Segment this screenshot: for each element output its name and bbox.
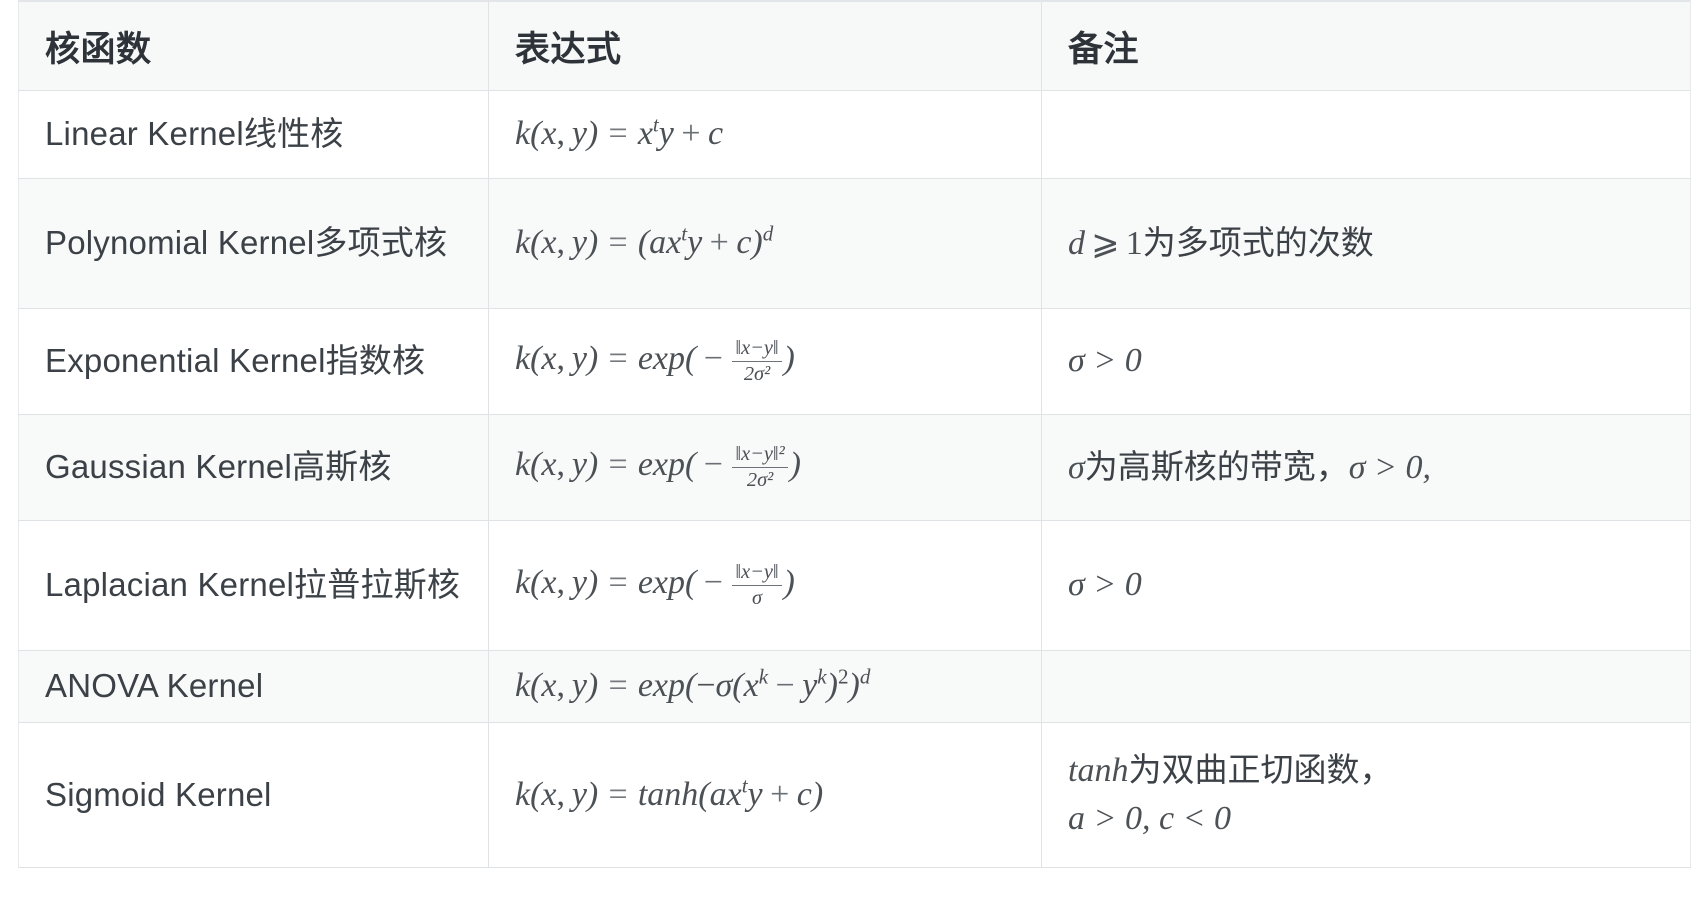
kernel-expression-polynomial: k(x, y)=(axty+c)d (489, 179, 1042, 309)
math-formula-exponential: k(x, y)=exp(−‖x−y‖2σ²) (515, 340, 795, 377)
math-formula-anova: k(x, y)=exp(−σ(xk−yk)2)d (515, 667, 870, 704)
kernel-name-anova: ANOVA Kernel (19, 651, 489, 723)
math-formula-sigmoid: k(x, y)=tanh(axty+c) (515, 776, 823, 813)
kernel-remark-laplacian: σ > 0 (1042, 521, 1691, 651)
column-header-remark: 备注 (1042, 1, 1691, 91)
math-remark-exponential: σ > 0 (1068, 342, 1142, 379)
kernel-table-wrapper: 核函数 表达式 备注 Linear Kernel线性核 k(x, y)=xty+… (0, 0, 1708, 868)
kernel-remark-linear (1042, 91, 1691, 179)
kernel-expression-gaussian: k(x, y)=exp(−‖x−y‖²2σ²) (489, 415, 1042, 521)
math-formula-gaussian: k(x, y)=exp(−‖x−y‖²2σ²) (515, 446, 801, 483)
kernel-expression-linear: k(x, y)=xty+c (489, 91, 1042, 179)
table-row: Laplacian Kernel拉普拉斯核 k(x, y)=exp(−‖x−y‖… (19, 521, 1691, 651)
kernel-remark-anova (1042, 651, 1691, 723)
table-row: Exponential Kernel指数核 k(x, y)=exp(−‖x−y‖… (19, 309, 1691, 415)
kernel-expression-anova: k(x, y)=exp(−σ(xk−yk)2)d (489, 651, 1042, 723)
fraction-gaussian: ‖x−y‖²2σ² (732, 443, 789, 492)
kernel-expression-sigmoid: k(x, y)=tanh(axty+c) (489, 723, 1042, 868)
table-header-row: 核函数 表达式 备注 (19, 1, 1691, 91)
kernel-name-exponential: Exponential Kernel指数核 (19, 309, 489, 415)
column-header-kernel-name: 核函数 (19, 1, 489, 91)
kernel-name-sigmoid: Sigmoid Kernel (19, 723, 489, 868)
math-remark-gaussian: σ为高斯核的带宽，σ > 0, (1068, 449, 1431, 486)
math-formula-linear: k(x, y)=xty+c (515, 115, 723, 152)
kernel-name-gaussian: Gaussian Kernel高斯核 (19, 415, 489, 521)
table-row: Gaussian Kernel高斯核 k(x, y)=exp(−‖x−y‖²2σ… (19, 415, 1691, 521)
kernel-name-laplacian: Laplacian Kernel拉普拉斯核 (19, 521, 489, 651)
math-remark-polynomial: d⩾1为多项式的次数 (1068, 225, 1374, 262)
kernel-remark-sigmoid: tanh为双曲正切函数， a > 0, c < 0 (1042, 723, 1691, 868)
table-row: ANOVA Kernel k(x, y)=exp(−σ(xk−yk)2)d (19, 651, 1691, 723)
kernel-remark-exponential: σ > 0 (1042, 309, 1691, 415)
kernel-name-polynomial: Polynomial Kernel多项式核 (19, 179, 489, 309)
table-row: Linear Kernel线性核 k(x, y)=xty+c (19, 91, 1691, 179)
table-row: Sigmoid Kernel k(x, y)=tanh(axty+c) tanh… (19, 723, 1691, 868)
math-formula-laplacian: k(x, y)=exp(−‖x−y‖σ) (515, 564, 795, 601)
math-remark-sigmoid-line1: tanh为双曲正切函数， (1068, 748, 1664, 794)
math-formula-polynomial: k(x, y)=(axty+c)d (515, 224, 773, 261)
table-row: Polynomial Kernel多项式核 k(x, y)=(axty+c)d … (19, 179, 1691, 309)
kernel-expression-exponential: k(x, y)=exp(−‖x−y‖2σ²) (489, 309, 1042, 415)
kernel-function-table: 核函数 表达式 备注 Linear Kernel线性核 k(x, y)=xty+… (18, 0, 1691, 868)
fraction-exponential: ‖x−y‖2σ² (732, 337, 783, 386)
math-remark-laplacian: σ > 0 (1068, 566, 1142, 603)
kernel-remark-polynomial: d⩾1为多项式的次数 (1042, 179, 1691, 309)
math-remark-sigmoid-line2: a > 0, c < 0 (1068, 796, 1664, 842)
kernel-name-linear: Linear Kernel线性核 (19, 91, 489, 179)
kernel-remark-gaussian: σ为高斯核的带宽，σ > 0, (1042, 415, 1691, 521)
fraction-laplacian: ‖x−y‖σ (732, 561, 783, 610)
column-header-expression: 表达式 (489, 1, 1042, 91)
kernel-expression-laplacian: k(x, y)=exp(−‖x−y‖σ) (489, 521, 1042, 651)
